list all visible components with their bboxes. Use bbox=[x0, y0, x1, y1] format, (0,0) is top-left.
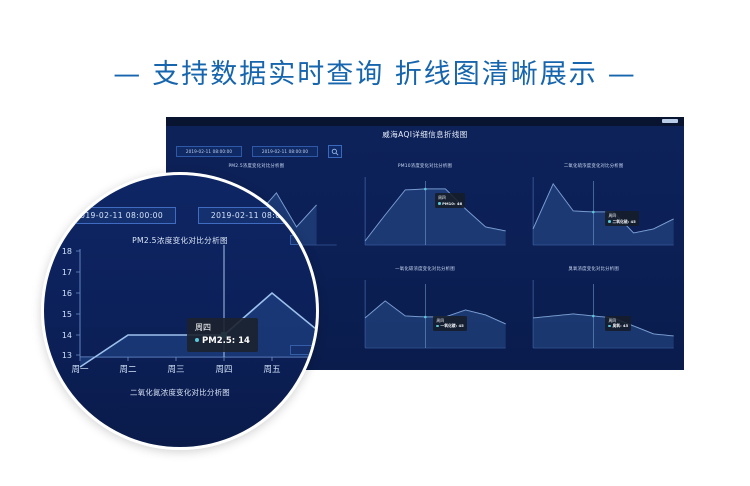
svg-text:18: 18 bbox=[62, 247, 72, 256]
panel-title: 威海AQI详细信息折线图 bbox=[166, 129, 684, 140]
chart-svg-co bbox=[341, 274, 510, 362]
search-button[interactable] bbox=[328, 145, 342, 158]
query-toolbar: 2019-02-11 08:00:00 2019-02-11 08:00:00 bbox=[176, 145, 342, 158]
start-date-input[interactable]: 2019-02-11 08:00:00 bbox=[176, 146, 242, 157]
tooltip-value: PM10: 46 bbox=[438, 201, 462, 207]
chart-tooltip-pm10: 周四 PM10: 46 bbox=[435, 193, 465, 208]
magnified-start-date-input[interactable]: 2019-02-11 08:00:00 bbox=[62, 207, 176, 224]
end-date-input[interactable]: 2019-02-11 08:00:00 bbox=[252, 146, 318, 157]
magnifier-lens: 2019-02-11 08:00:00 2019-02-11 08:00:00 … bbox=[41, 172, 319, 450]
svg-text:16: 16 bbox=[62, 289, 72, 298]
svg-text:13: 13 bbox=[62, 351, 72, 360]
tooltip-dot-icon bbox=[438, 202, 441, 205]
chart-svg-pm10 bbox=[341, 171, 510, 259]
page-headline: —支持数据实时查询 折线图清晰展示— bbox=[0, 52, 750, 91]
magnified-end-date-input[interactable]: 2019-02-11 08:00:00 bbox=[198, 207, 312, 224]
chart-title: 一氧化碳浓度变化对比分析图 bbox=[341, 266, 510, 272]
chart-svg-o3 bbox=[509, 274, 678, 362]
magnified-tooltip-value: PM2.5: 14 bbox=[195, 335, 250, 349]
panel-topbar bbox=[166, 117, 684, 126]
tooltip-dot-icon bbox=[608, 325, 611, 328]
magnified-tooltip: 周四 PM2.5: 14 bbox=[187, 318, 258, 352]
svg-text:15: 15 bbox=[62, 310, 72, 319]
headline-text: 支持数据实时查询 折线图清晰展示 bbox=[152, 59, 598, 90]
chart-title: PM2.5浓度变化对比分析图 bbox=[172, 163, 341, 169]
chart-tooltip-so2: 周四 二氧化硫: 45 bbox=[605, 211, 638, 226]
chart-cell-co: 一氧化碳浓度变化对比分析图 周四 一氧化碳: 45 bbox=[341, 264, 510, 367]
tooltip-dot-icon bbox=[195, 338, 199, 342]
svg-text:14: 14 bbox=[62, 331, 72, 340]
chart-cell-so2: 二氧化硫浓度变化对比分析图 周四 二氧化硫: 45 bbox=[509, 161, 678, 264]
chart-cell-pm10: PM10浓度变化对比分析图 周四 PM10: 46 bbox=[341, 161, 510, 264]
magnified-bottom-chart-title: 二氧化氮浓度变化对比分析图 bbox=[44, 387, 316, 398]
magnified-toolbar: 2019-02-11 08:00:00 2019-02-11 08:00:00 bbox=[62, 207, 312, 224]
magnified-tooltip-title: 周四 bbox=[195, 322, 250, 335]
chart-title: 二氧化硫浓度变化对比分析图 bbox=[509, 163, 678, 169]
chart-title: 臭氧浓度变化对比分析图 bbox=[509, 266, 678, 272]
tooltip-value: 一氧化碳: 45 bbox=[436, 323, 463, 329]
svg-text:17: 17 bbox=[62, 268, 72, 277]
magnified-right-chip-top bbox=[290, 235, 312, 245]
tooltip-value: 臭氧: 45 bbox=[608, 323, 628, 329]
headline-dash-left: — bbox=[103, 59, 152, 90]
tooltip-value: 二氧化硫: 45 bbox=[608, 219, 635, 225]
headline-dash-right: — bbox=[598, 59, 647, 90]
chart-svg-so2 bbox=[509, 171, 678, 259]
panel-topbar-indicator bbox=[662, 119, 678, 123]
search-icon bbox=[331, 148, 339, 156]
svg-text:周四: 周四 bbox=[215, 365, 232, 375]
chart-tooltip-o3: 周四 臭氧: 45 bbox=[605, 316, 631, 331]
svg-text:周五: 周五 bbox=[263, 365, 281, 375]
magnifier-content: 2019-02-11 08:00:00 2019-02-11 08:00:00 … bbox=[44, 175, 316, 447]
magnified-chart-svg: 18 17 16 15 14 13 周一 周 bbox=[44, 245, 319, 375]
tooltip-dot-icon bbox=[436, 325, 439, 328]
svg-text:周三: 周三 bbox=[167, 365, 184, 375]
svg-text:周一: 周一 bbox=[71, 365, 89, 375]
magnified-right-chip-bottom bbox=[290, 345, 312, 355]
tooltip-dot-icon bbox=[608, 220, 611, 223]
chart-tooltip-co: 周四 一氧化碳: 45 bbox=[433, 316, 466, 331]
chart-title: PM10浓度变化对比分析图 bbox=[341, 163, 510, 169]
svg-text:周二: 周二 bbox=[119, 365, 137, 375]
chart-cell-o3: 臭氧浓度变化对比分析图 周四 臭氧: 45 bbox=[509, 264, 678, 367]
